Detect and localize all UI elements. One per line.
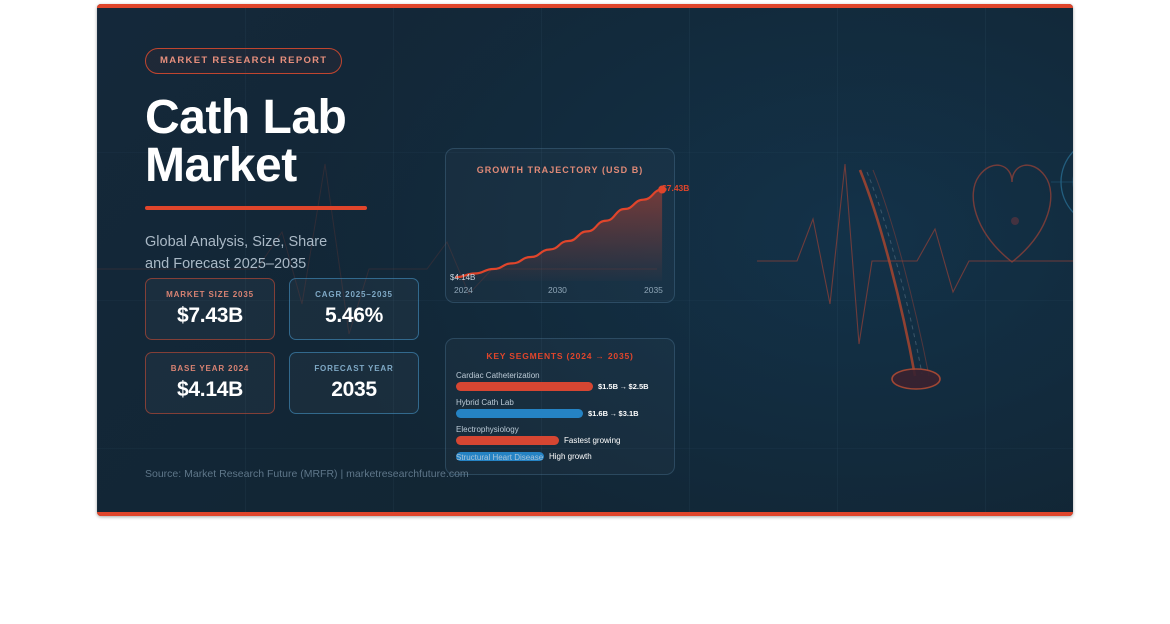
stat-card-grid: MARKET SIZE 2035 $7.43B CAGR 2025–2035 5… [145, 278, 419, 414]
segment-name: Hybrid Cath Lab [456, 398, 664, 407]
chart-x-tick: 2024 [454, 285, 473, 295]
growth-trajectory-chart [446, 177, 674, 287]
chart-endpoint-label: $7.43B [662, 183, 689, 193]
chart-area-fill [456, 190, 662, 281]
segment-name: Cardiac Catheterization [456, 371, 664, 380]
stat-card: BASE YEAR 2024 $4.14B [145, 352, 275, 414]
segment-note: $1.5B → $2.5B [598, 382, 649, 391]
title-underline [145, 206, 367, 210]
chart-x-tick: 2030 [548, 285, 567, 295]
stat-label: BASE YEAR 2024 [171, 364, 249, 373]
stat-label: MARKET SIZE 2035 [166, 290, 254, 299]
stat-label: FORECAST YEAR [314, 364, 393, 373]
segments-title: KEY SEGMENTS (2024 → 2035) [456, 351, 664, 361]
segment-bar [456, 382, 593, 391]
stat-card: CAGR 2025–2035 5.46% [289, 278, 419, 340]
segment-bar [456, 409, 583, 418]
stat-value: 2035 [331, 378, 377, 402]
title-line-1: Cath Lab [145, 91, 346, 144]
chart-start-label: $4.14B [450, 273, 475, 282]
infographic-banner: MARKET RESEARCH REPORT Cath Lab Market G… [97, 4, 1073, 516]
segment-row: Electrophysiology Fastest growing [456, 425, 664, 445]
stat-value: 5.46% [325, 304, 383, 328]
bottom-accent-rule [97, 512, 1073, 516]
segment-note: Fastest growing [564, 436, 620, 445]
subtitle-line-2: and Forecast 2025–2035 [145, 254, 475, 276]
segment-row: Cardiac Catheterization $1.5B → $2.5B [456, 371, 664, 391]
segment-bar [456, 436, 559, 445]
segment-note: High growth [549, 452, 592, 461]
stat-label: CAGR 2025–2035 [315, 290, 393, 299]
stat-card: FORECAST YEAR 2035 [289, 352, 419, 414]
subtitle-line-1: Global Analysis, Size, Share [145, 232, 475, 254]
title-line-2: Market [145, 142, 475, 190]
growth-trajectory-panel: GROWTH TRAJECTORY (USD B) $7.43B $4.14B … [445, 148, 675, 303]
segment-row: Hybrid Cath Lab $1.6B → $3.1B [456, 398, 664, 418]
stat-value: $4.14B [177, 378, 243, 402]
segment-name: Structural Heart Disease [456, 453, 543, 462]
source-note: Source: Market Research Future (MRFR) | … [145, 468, 469, 480]
report-badge: MARKET RESEARCH REPORT [145, 48, 342, 74]
segment-row: Structural Heart Disease High growth [456, 452, 664, 461]
key-segments-panel: KEY SEGMENTS (2024 → 2035) Cardiac Cathe… [445, 338, 675, 475]
chart-x-tick: 2035 [644, 285, 663, 295]
top-accent-rule [97, 4, 1073, 8]
chart-title: GROWTH TRAJECTORY (USD B) [446, 165, 674, 175]
stat-value: $7.43B [177, 304, 243, 328]
stat-card: MARKET SIZE 2035 $7.43B [145, 278, 275, 340]
segment-note: $1.6B → $3.1B [588, 409, 639, 418]
segment-name: Electrophysiology [456, 425, 664, 434]
left-column: MARKET RESEARCH REPORT Cath Lab Market G… [145, 48, 475, 276]
subtitle: Global Analysis, Size, Share and Forecas… [145, 232, 475, 276]
page-title: Cath Lab Market [145, 94, 475, 190]
